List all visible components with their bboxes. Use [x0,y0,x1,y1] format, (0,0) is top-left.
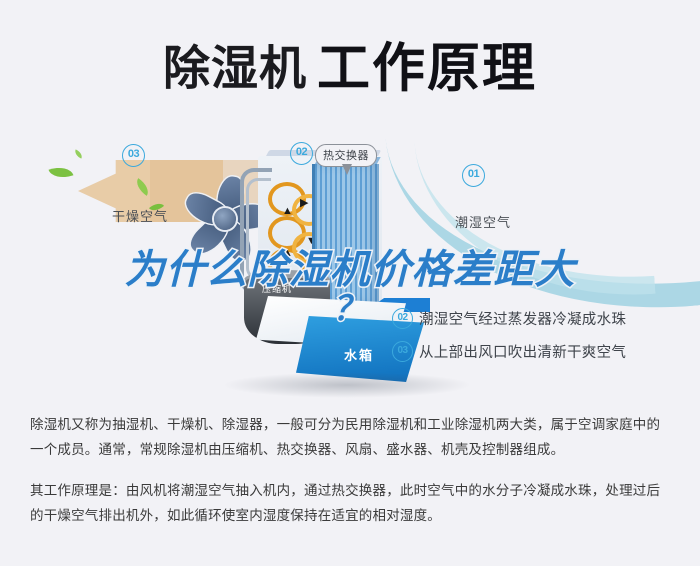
illustration-badge-03: 03 [122,144,145,167]
body-paragraph-1: 除湿机又称为抽湿机、干燥机、除湿器，一般可分为民用除湿机和工业除湿机两大类，属于… [30,412,670,462]
fan-hub [214,208,236,230]
legend-badge: 03 [392,341,413,362]
legend-item: 03 从上部出风口吹出清新干爽空气 [392,335,692,368]
flow-arrow-right-icon: ▶ [300,198,308,209]
page-title-part1: 除湿机 [163,42,307,95]
illustration-badge-02: 02 [290,142,313,165]
legend-badge: 02 [392,308,413,329]
leaf-icon [73,149,84,158]
ground-shadow [222,372,472,398]
legend-item: 02 潮湿空气经过蒸发器冷凝成水珠 [392,302,692,335]
illustration-badge-01: 01 [462,164,485,187]
infographic-page: 除湿机工作原理 ▲ ▲ ▶ ▼ [0,0,700,566]
body-paragraph-2: 其工作原理是：由风机将潮湿空气抽入机内，通过热交换器，此时空气中的水分子冷凝成水… [30,478,670,528]
body-copy: 除湿机又称为抽湿机、干燥机、除湿器，一般可分为民用除湿机和工业除湿机两大类，属于… [0,412,700,528]
compressor-label: 压缩机 [262,282,292,295]
dry-air-label: 干燥空气 [112,206,168,225]
page-title: 除湿机工作原理 [0,26,700,102]
water-tank-label: 水箱 [344,345,374,364]
flow-arrow-up-icon: ▲ [282,206,293,217]
legend-list: 02 潮湿空气经过蒸发器冷凝成水珠 03 从上部出风口吹出清新干爽空气 [392,302,692,368]
legend-text: 从上部出风口吹出清新干爽空气 [419,341,626,362]
legend-text: 潮湿空气经过蒸发器冷凝成水珠 [419,308,626,329]
callout-pointer-icon [342,164,352,175]
flow-arrow-up-icon: ▲ [282,248,293,259]
humid-air-label: 潮湿空气 [455,212,511,231]
page-title-part2: 工作原理 [317,39,537,98]
leaf-icon [49,163,74,182]
